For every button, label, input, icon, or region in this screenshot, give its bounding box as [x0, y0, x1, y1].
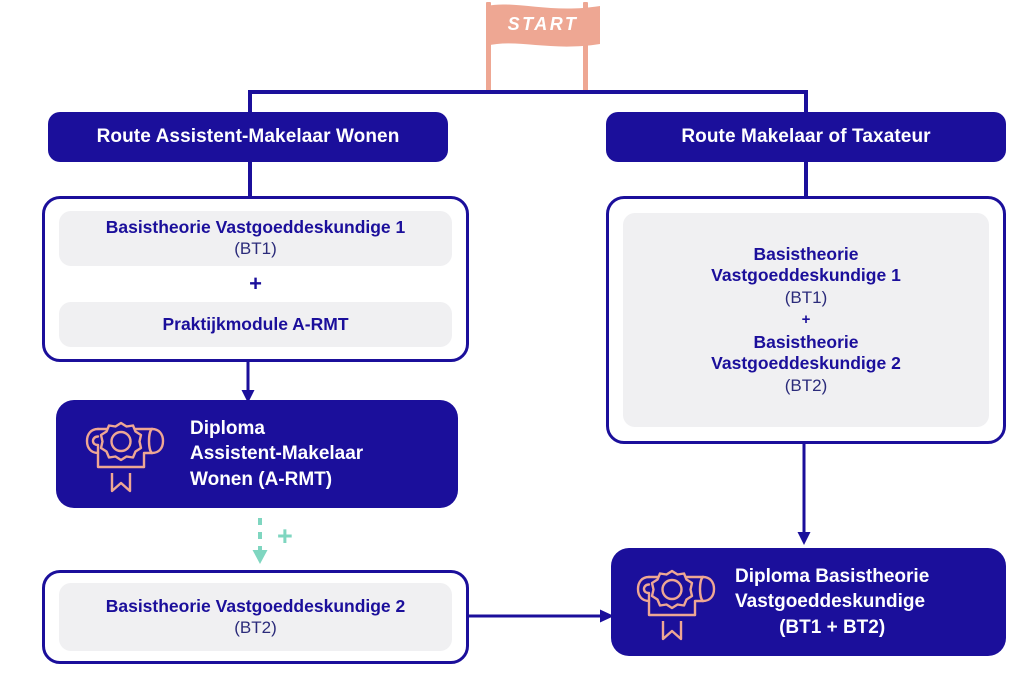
connector-left-header-to-modules [248, 162, 252, 196]
module-line: Vastgoeddeskundige 1 [711, 265, 901, 286]
diploma-line: Diploma Basistheorie [735, 564, 929, 589]
optional-connector-plus: + [277, 523, 293, 550]
flag-banner-icon [478, 2, 608, 58]
left-requirements-card: Basistheorie Vastgoeddeskundige 1 (BT1) … [42, 196, 469, 362]
arrow-left-modules-to-diploma [238, 362, 258, 404]
route-header-makelaar-of-taxateur[interactable]: Route Makelaar of Taxateur [606, 112, 1006, 162]
connector-right-header-to-modules [804, 162, 808, 196]
diploma-line: Vastgoeddeskundige [735, 589, 929, 614]
left-diploma-text: Diploma Assistent-Makelaar Wonen (A-RMT) [190, 416, 363, 491]
diploma-line: (BT1 + BT2) [735, 615, 929, 640]
route-header-assistent-makelaar-wonen[interactable]: Route Assistent-Makelaar Wonen [48, 112, 448, 162]
module-line: Vastgoeddeskundige 2 [711, 353, 901, 374]
left-diploma-card[interactable]: Diploma Assistent-Makelaar Wonen (A-RMT) [56, 400, 458, 508]
arrow-optional-dashed-mint [248, 518, 272, 566]
module-line: Basistheorie [753, 332, 858, 353]
right-requirements-card: Basistheorie Vastgoeddeskundige 1 (BT1) … [606, 196, 1006, 444]
module-card-bt2[interactable]: Basistheorie Vastgoeddeskundige 2 (BT2) [59, 583, 452, 651]
right-diploma-text: Diploma Basistheorie Vastgoeddeskundige … [735, 564, 929, 639]
connector-start-to-right-route [804, 90, 808, 112]
module-title: Basistheorie Vastgoeddeskundige 2 [106, 596, 406, 617]
diploma-line: Diploma [190, 416, 363, 441]
connector-start-to-left-route [248, 90, 252, 112]
module-separator-plus: + [249, 266, 262, 302]
right-diploma-card[interactable]: Diploma Basistheorie Vastgoeddeskundige … [611, 548, 1006, 656]
diploma-scroll-icon [629, 563, 721, 641]
arrow-right-modules-to-diploma [794, 444, 814, 546]
diploma-line: Wonen (A-RMT) [190, 467, 363, 492]
module-code: (BT1) [234, 238, 277, 259]
module-title: Praktijkmodule A-RMT [162, 314, 348, 335]
module-card-bt1-bt2[interactable]: Basistheorie Vastgoeddeskundige 1 (BT1) … [623, 213, 989, 427]
route-header-label: Route Makelaar of Taxateur [681, 126, 930, 148]
module-code: (BT1) [785, 287, 828, 308]
module-code: (BT2) [234, 617, 277, 638]
arrow-bt2-to-right-diploma [469, 605, 615, 627]
module-title: Basistheorie Vastgoeddeskundige 1 [106, 217, 406, 238]
diploma-scroll-icon [78, 415, 170, 493]
module-separator-plus: + [802, 308, 811, 332]
module-line: Basistheorie [753, 244, 858, 265]
connector-start-bus [248, 90, 808, 94]
diploma-line: Assistent-Makelaar [190, 441, 363, 466]
left-extra-module-card: Basistheorie Vastgoeddeskundige 2 (BT2) [42, 570, 469, 664]
module-card-bt1[interactable]: Basistheorie Vastgoeddeskundige 1 (BT1) [59, 211, 452, 266]
start-flag: START [478, 2, 608, 94]
module-card-praktijkmodule-armt[interactable]: Praktijkmodule A-RMT [59, 302, 452, 347]
diagram-canvas: START Route Assistent-Makelaar Wonen Rou… [0, 0, 1024, 680]
module-code: (BT2) [785, 375, 828, 396]
route-header-label: Route Assistent-Makelaar Wonen [97, 126, 400, 148]
